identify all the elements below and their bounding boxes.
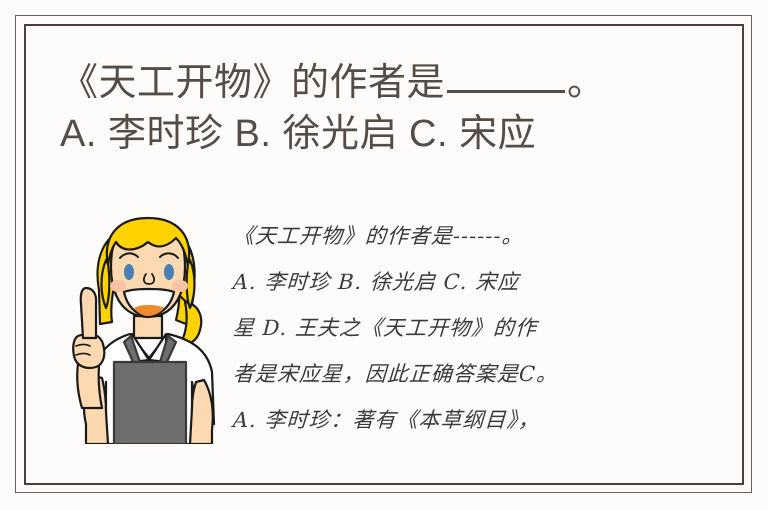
explanation-text: 《天工开物》的作者是------。 A. 李时珍 B. 徐光启 C. 宋应 星 … [233,213,653,443]
cartoon-girl-illustration [72,212,222,444]
title-line-2: A. 李时珍 B. 徐光启 C. 宋应 [60,109,700,160]
explanation-line: 星 D. 王夫之《天工开物》的作 [232,305,654,351]
answer-blank-underline [447,90,565,93]
explanation-line: A. 李时珍 B. 徐光启 C. 宋应 [232,259,654,305]
page-title: 《天工开物》的作者是。 A. 李时珍 B. 徐光启 C. 宋应 [60,58,700,161]
title-line-1: 《天工开物》的作者是。 [60,58,700,109]
title-line-1-text: 《天工开物》的作者是 [60,62,445,104]
title-line-1-period: 。 [567,62,606,104]
explanation-line: A. 李时珍：著有《本草纲目》， [232,397,654,443]
explanation-line: 《天工开物》的作者是------。 [232,213,654,259]
question-card: 《天工开物》的作者是。 A. 李时珍 B. 徐光启 C. 宋应 《天工开物》的作… [0,0,768,510]
explanation-line: 者是宋应星，因此正确答案是C。 [232,351,654,397]
